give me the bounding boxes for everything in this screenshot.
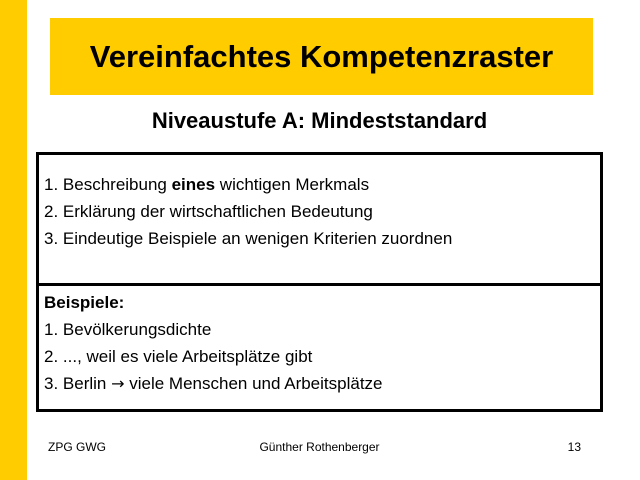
criteria-item-1-pre: Beschreibung — [58, 175, 171, 194]
content-frame: 1. Beschreibung eines wichtigen Merkmals… — [36, 152, 603, 412]
examples-cell: Beispiele: 1. Bevölkerungsdichte 2. ...,… — [39, 283, 600, 409]
criteria-item-2: 2. Erklärung der wirtschaftlichen Bedeut… — [44, 198, 600, 225]
example-item-2-number: 2. — [44, 347, 58, 366]
example-item-1: 1. Bevölkerungsdichte — [44, 316, 600, 343]
criteria-item-1-post: wichtigen Merkmals — [215, 175, 369, 194]
criteria-item-3-number: 3. — [44, 229, 58, 248]
criteria-item-2-pre: Erklärung der wirtschaftlichen Bedeutung — [58, 202, 373, 221]
example-item-3-post: viele Menschen und Arbeitsplätze — [125, 374, 383, 393]
slide-footer: ZPG GWG Günther Rothenberger 13 — [36, 440, 603, 460]
left-accent-stripe — [0, 0, 27, 480]
footer-page-number: 13 — [568, 440, 581, 454]
example-item-1-text: Bevölkerungsdichte — [58, 320, 211, 339]
criteria-item-3-pre: Eindeutige Beispiele an wenigen Kriterie… — [58, 229, 452, 248]
criteria-item-2-number: 2. — [44, 202, 58, 221]
example-item-3: 3. Berlin → viele Menschen und Arbeitspl… — [44, 370, 600, 397]
example-item-1-number: 1. — [44, 320, 58, 339]
subtitle: Niveaustufe A: Mindeststandard — [36, 108, 603, 134]
title-banner: Vereinfachtes Kompetenzraster — [50, 18, 593, 95]
criteria-item-3: 3. Eindeutige Beispiele an wenigen Krite… — [44, 225, 600, 252]
right-arrow-icon: → — [111, 374, 124, 393]
page-title: Vereinfachtes Kompetenzraster — [90, 41, 553, 72]
example-item-2: 2. ..., weil es viele Arbeitsplätze gibt — [44, 343, 600, 370]
example-item-2-text: ..., weil es viele Arbeitsplätze gibt — [58, 347, 312, 366]
criteria-cell: 1. Beschreibung eines wichtigen Merkmals… — [39, 155, 600, 283]
criteria-item-1-number: 1. — [44, 175, 58, 194]
example-item-3-pre: Berlin — [58, 374, 111, 393]
criteria-item-1-emphasis: eines — [172, 175, 215, 194]
example-item-3-number: 3. — [44, 374, 58, 393]
footer-author: Günther Rothenberger — [36, 440, 603, 454]
slide-canvas: Vereinfachtes Kompetenzraster Niveaustuf… — [0, 0, 640, 480]
criteria-item-1: 1. Beschreibung eines wichtigen Merkmals — [44, 171, 600, 198]
examples-heading: Beispiele: — [44, 290, 600, 316]
